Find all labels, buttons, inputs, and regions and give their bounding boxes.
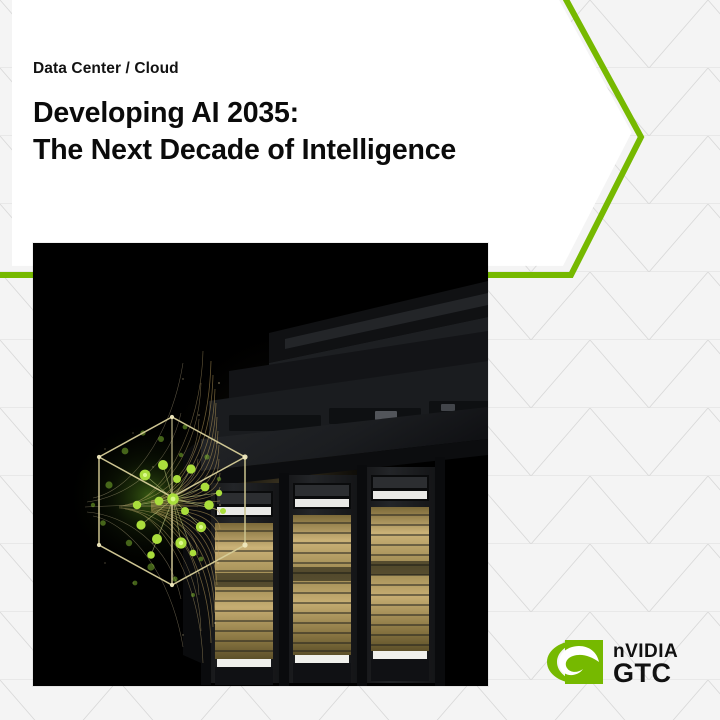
gtc-session-card: Data Center / Cloud Developing AI 2035: …: [0, 0, 720, 720]
title-block: Data Center / Cloud Developing AI 2035: …: [33, 60, 456, 170]
session-title: Developing AI 2035: The Next Decade of I…: [33, 95, 456, 171]
rack-columns: [209, 467, 435, 685]
category-eyebrow: Data Center / Cloud: [33, 60, 456, 79]
hero-image: [33, 243, 488, 686]
nvidia-gtc-logo: nVIDIA GTC: [537, 636, 709, 688]
nvidia-eye-icon: [547, 640, 603, 684]
gtc-wordmark: GTC: [613, 658, 672, 688]
